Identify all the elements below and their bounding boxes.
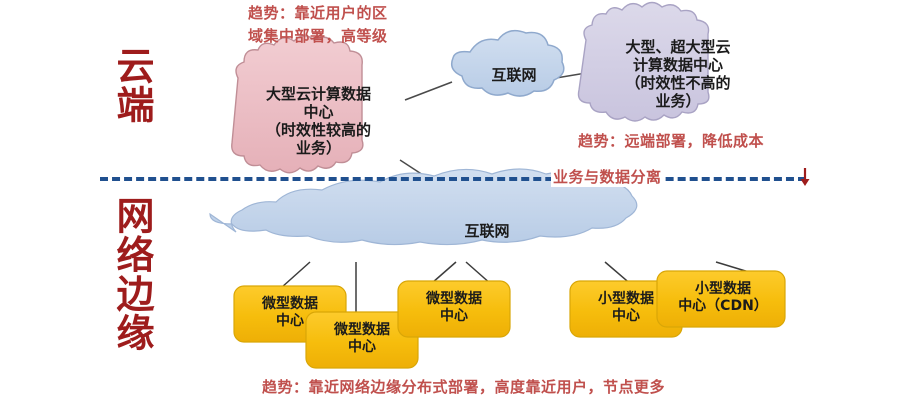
connector-internet-to-purple xyxy=(556,72,592,78)
section-label-cloud: 云端 xyxy=(104,46,152,124)
node-label-small-datacenter-cdn: 小型数据 中心（CDN） xyxy=(663,281,783,315)
trend-annotation-right: 趋势：远端部署，降低成本 xyxy=(578,130,828,153)
connector-pink-to-internet xyxy=(405,82,452,100)
node-label-internet-lower: 互联网 xyxy=(443,222,531,240)
node-label-hyperscale-cloud-datacenter: 大型、超大型云 计算数据中心 （时效性不高的 业务） xyxy=(588,38,768,110)
trend-annotation-bottom: 趋势：靠近网络边缘分布式部署，高度靠近用户，节点更多 xyxy=(262,376,822,399)
section-label-network-edge: 网络边缘 xyxy=(104,196,152,352)
trend-annotation-top: 趋势：靠近用户的区 域集中部署，高等级 xyxy=(248,2,478,47)
node-label-micro-datacenter-2: 微型数据 中心 xyxy=(312,322,412,356)
tier-divider-line xyxy=(100,177,806,181)
node-label-micro-datacenter-3: 微型数据 中心 xyxy=(404,291,504,325)
node-label-internet-upper: 互联网 xyxy=(470,66,558,84)
node-label-large-cloud-datacenter: 大型云计算数据 中心 （时效性较高的 业务） xyxy=(236,85,401,157)
connector-pink-downward xyxy=(400,160,446,190)
divider-label: 业务与数据分离 xyxy=(551,166,664,187)
node-label-small-datacenter: 小型数据 中心 xyxy=(576,291,676,325)
diagram-canvas: 云端 网络边缘 趋势：靠近用户的区 域集中部署，高等级 趋势：远端部署，降低成本… xyxy=(0,0,900,400)
down-arrow-icon xyxy=(798,168,812,186)
